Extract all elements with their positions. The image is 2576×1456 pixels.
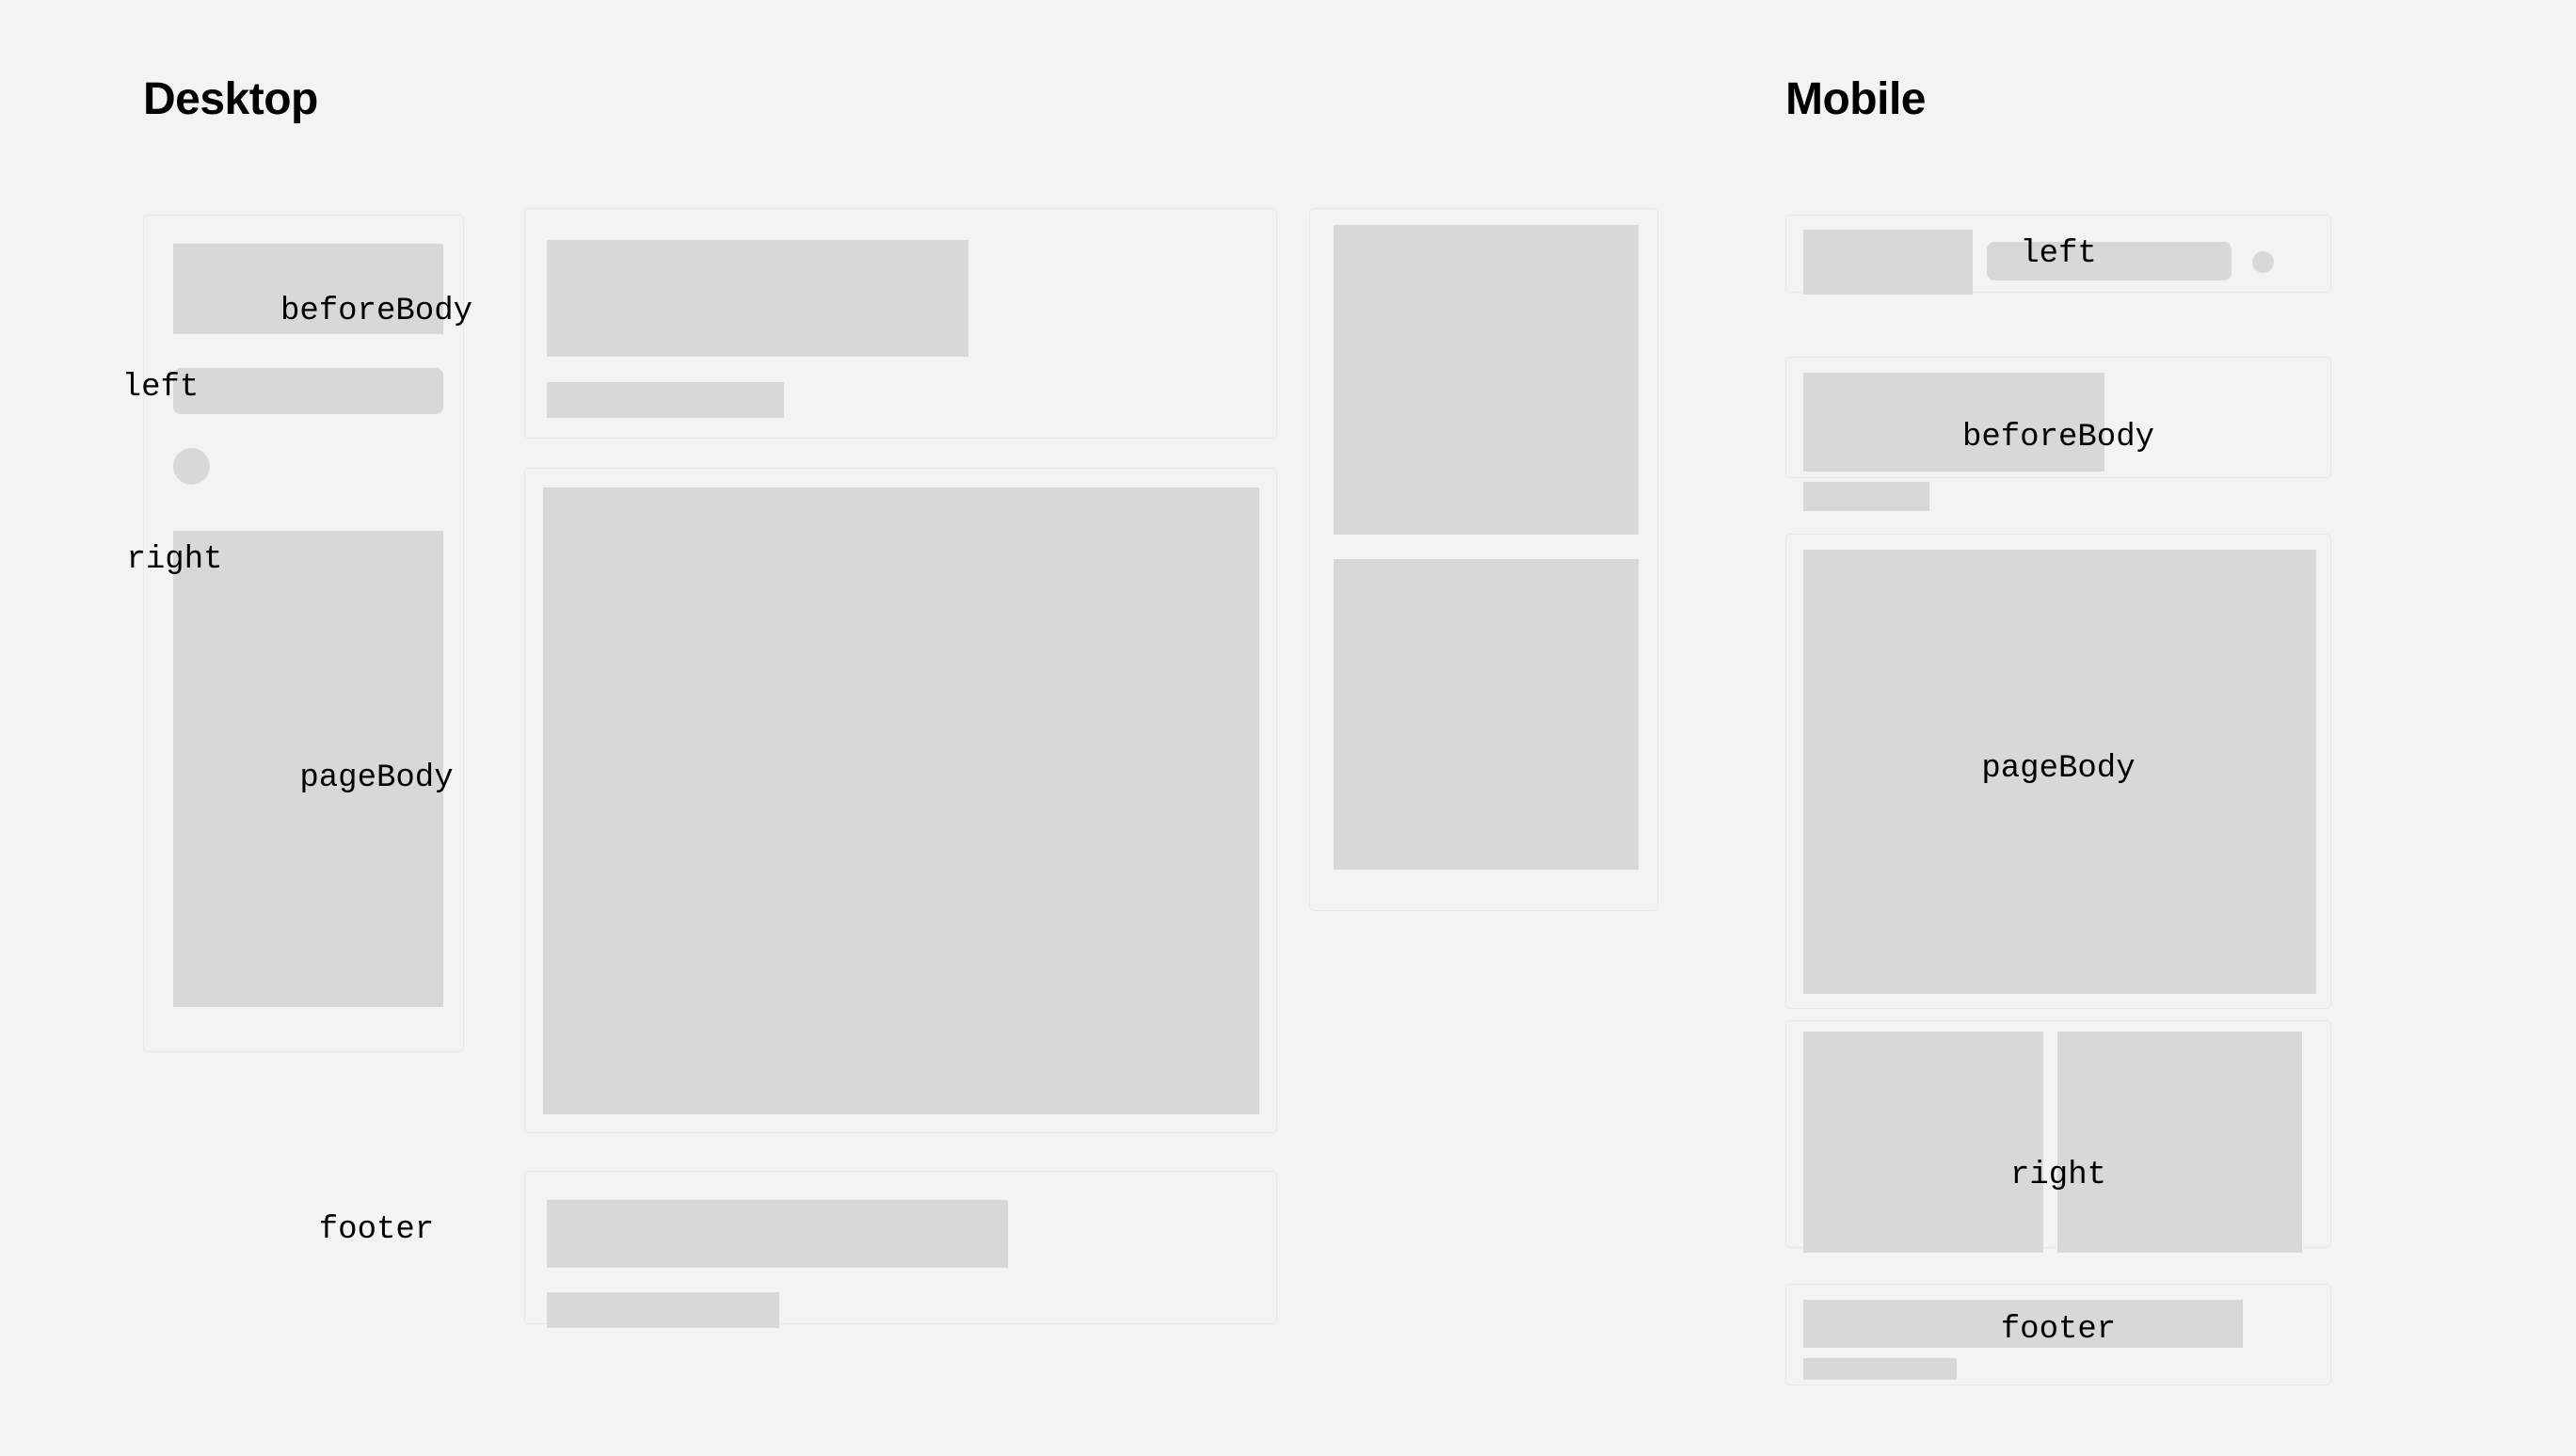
desktop-section-title: Desktop bbox=[143, 77, 318, 122]
mobile-pagebody-content-block bbox=[1803, 550, 2316, 994]
mobile-section-title: Mobile bbox=[1785, 77, 1926, 122]
desktop-left-avatar-dot-icon bbox=[173, 448, 210, 485]
mobile-left-header-block bbox=[1803, 230, 1973, 295]
desktop-beforebody-region-card[interactable] bbox=[524, 208, 1277, 439]
mobile-right-block-left bbox=[1803, 1032, 2043, 1253]
mobile-left-avatar-dot-icon bbox=[2252, 251, 2274, 273]
responsive-layout-preview: Desktop left beforeBody pageBody footer … bbox=[0, 0, 2576, 1456]
mobile-left-region-card[interactable] bbox=[1785, 215, 2331, 293]
desktop-beforebody-banner-block bbox=[547, 240, 968, 357]
mobile-footer-block bbox=[1803, 1300, 2243, 1348]
desktop-left-header-block bbox=[173, 244, 443, 334]
mobile-left-nav-bar bbox=[1987, 242, 2232, 280]
mobile-footer-caption-bar bbox=[1803, 1358, 1957, 1380]
desktop-footer-caption-bar bbox=[547, 1292, 779, 1328]
mobile-pagebody-region-card[interactable] bbox=[1785, 534, 2331, 1009]
desktop-pagebody-content-block bbox=[543, 488, 1259, 1114]
mobile-beforebody-caption-bar bbox=[1803, 482, 1929, 511]
mobile-right-region-card[interactable] bbox=[1785, 1020, 2331, 1248]
desktop-pagebody-region-card[interactable] bbox=[524, 468, 1277, 1133]
desktop-right-region-card[interactable] bbox=[1309, 208, 1658, 911]
mobile-beforebody-banner-block bbox=[1803, 373, 2104, 472]
desktop-footer-region-card[interactable] bbox=[524, 1171, 1277, 1324]
mobile-footer-region-card[interactable] bbox=[1785, 1284, 2331, 1385]
desktop-left-nav-bar bbox=[173, 368, 443, 414]
mobile-right-block-right bbox=[2057, 1032, 2302, 1253]
desktop-right-block-top bbox=[1334, 225, 1639, 535]
mobile-beforebody-region-card[interactable] bbox=[1785, 357, 2331, 478]
desktop-left-region-card[interactable] bbox=[143, 215, 464, 1052]
desktop-beforebody-caption-bar bbox=[547, 382, 784, 418]
desktop-footer-block bbox=[547, 1200, 1008, 1268]
desktop-left-content-block bbox=[173, 531, 443, 1007]
desktop-right-block-bottom bbox=[1334, 559, 1639, 870]
